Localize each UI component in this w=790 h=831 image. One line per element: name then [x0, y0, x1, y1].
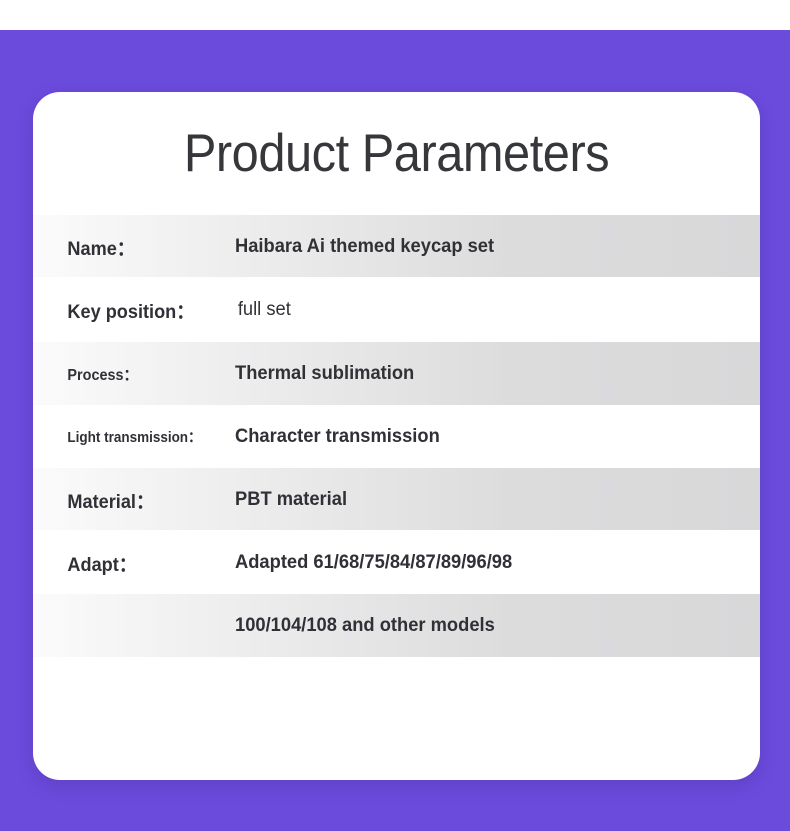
row-value-name: Haibara Ai themed keycap set	[235, 235, 494, 258]
table-row: Material： PBT material	[33, 468, 760, 530]
table-row: Process： Thermal sublimation	[33, 342, 760, 405]
table-row: Key position： full set	[33, 277, 760, 342]
parameters-table: Name： Haibara Ai themed keycap set Key p…	[33, 215, 760, 657]
table-row: Adapt： Adapted 61/68/75/84/87/89/96/98	[33, 530, 760, 594]
row-label-process: Process：	[33, 363, 221, 385]
row-label-material: Material：	[33, 485, 221, 514]
row-value-adapt: Adapted 61/68/75/84/87/89/96/98	[235, 551, 512, 574]
table-row: Light transmission： Character transmissi…	[33, 405, 760, 468]
product-parameters-page: Product Parameters Name： Haibara Ai them…	[0, 0, 790, 831]
row-label-adapt: Adapt：	[33, 548, 221, 577]
row-value-process: Thermal sublimation	[235, 362, 414, 385]
row-label-name: Name：	[33, 232, 221, 261]
row-label-light-transmission: Light transmission：	[33, 426, 221, 447]
page-title: Product Parameters	[62, 122, 731, 186]
row-value-material: PBT material	[235, 488, 347, 511]
row-value-key-position: full set	[235, 298, 291, 321]
table-row: Name： Haibara Ai themed keycap set	[33, 215, 760, 277]
row-label-key-position: Key position：	[33, 295, 221, 324]
table-row: 100/104/108 and other models	[33, 594, 760, 657]
parameters-card: Product Parameters Name： Haibara Ai them…	[33, 92, 760, 780]
row-value-adapt-continued: 100/104/108 and other models	[235, 614, 495, 637]
row-value-light-transmission: Character transmission	[235, 425, 440, 448]
